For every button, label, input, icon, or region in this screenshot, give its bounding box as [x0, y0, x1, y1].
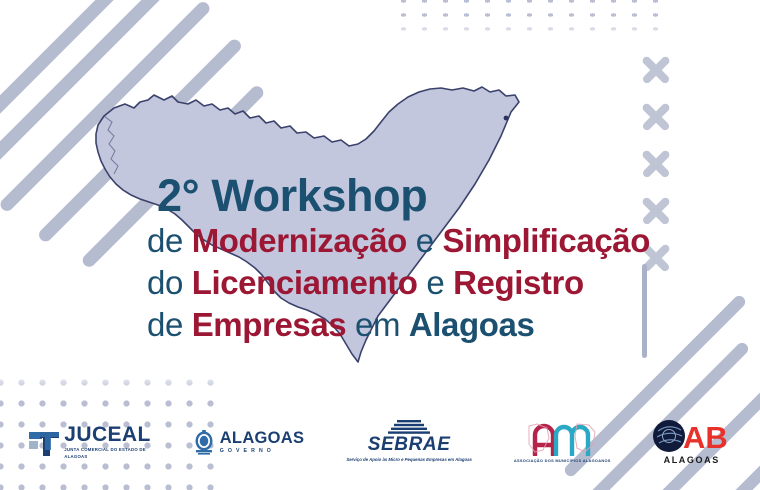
headline-block: 2° Workshop de Modernização e Simplifica…	[147, 172, 707, 346]
headline-line-4-emphasis-1: Empresas	[192, 306, 347, 343]
svg-text:AB: AB	[683, 420, 728, 453]
x-mark-icon	[639, 100, 673, 134]
headline-line-2: de Modernização e Simplificação	[147, 220, 707, 262]
juceal-subtitle: JUNTA COMERCIAL DO ESTADO DE ALAGOAS	[64, 447, 150, 459]
sebrae-bars-icon	[383, 420, 435, 434]
logo-juceal: JUCEAL JUNTA COMERCIAL DO ESTADO DE ALAG…	[29, 424, 150, 459]
headline-line-4-conjunction: em	[346, 306, 409, 343]
poster-canvas: 2° Workshop de Modernização e Simplifica…	[0, 0, 760, 490]
headline-line-2-emphasis-2: Simplificação	[442, 222, 650, 259]
logo-sebrae: SEBRAE Serviço de Apoio às Micro e Peque…	[346, 420, 472, 464]
oab-subtitle: ALAGOAS	[664, 455, 720, 465]
headline-line-2-conjunction: e	[407, 222, 443, 259]
ama-mark-icon	[527, 422, 597, 456]
logo-oab: AB ALAGOAS	[653, 419, 731, 465]
alagoas-text: ALAGOAS GOVERNO	[220, 430, 305, 455]
x-mark-icon	[639, 53, 673, 87]
sebrae-name: SEBRAE	[368, 435, 451, 454]
headline-line-3-conjunction: e	[418, 264, 454, 301]
headline-line-3-emphasis-2: Registro	[453, 264, 584, 301]
headline-line-1: 2° Workshop	[157, 172, 707, 220]
juceal-text: JUCEAL JUNTA COMERCIAL DO ESTADO DE ALAG…	[64, 424, 150, 459]
alagoas-name: ALAGOAS	[220, 430, 305, 447]
headline-line-4-prefix: de	[147, 306, 192, 343]
headline-line-2-prefix: de	[147, 222, 192, 259]
juceal-mark-icon	[29, 428, 59, 456]
headline-line-3-prefix: do	[147, 264, 192, 301]
headline-line-4-emphasis-2: Alagoas	[409, 306, 535, 343]
headline-line-3-emphasis-1: Licenciamento	[192, 264, 418, 301]
oab-mark-icon: AB	[653, 419, 731, 453]
alagoas-subtitle: GOVERNO	[220, 449, 305, 454]
logo-alagoas-governo: ALAGOAS GOVERNO	[193, 429, 305, 455]
sebrae-subtitle: Serviço de Apoio às Micro e Pequenas Emp…	[346, 457, 472, 464]
dot-grid-top-right-decoration	[393, 0, 663, 38]
sponsor-logo-bar: JUCEAL JUNTA COMERCIAL DO ESTADO DE ALAG…	[0, 412, 760, 472]
alagoas-coat-of-arms-icon	[193, 429, 215, 455]
logo-ama: ASSOCIAÇÃO DOS MUNICÍPIOS ALAGOANOS	[514, 422, 611, 463]
capital-city-marker	[504, 116, 509, 121]
headline-line-3: do Licenciamento e Registro	[147, 262, 707, 304]
headline-line-2-emphasis-1: Modernização	[192, 222, 407, 259]
juceal-name: JUCEAL	[64, 424, 150, 445]
headline-line-4: de Empresas em Alagoas	[147, 304, 707, 346]
ama-subtitle: ASSOCIAÇÃO DOS MUNICÍPIOS ALAGOANOS	[514, 458, 611, 463]
